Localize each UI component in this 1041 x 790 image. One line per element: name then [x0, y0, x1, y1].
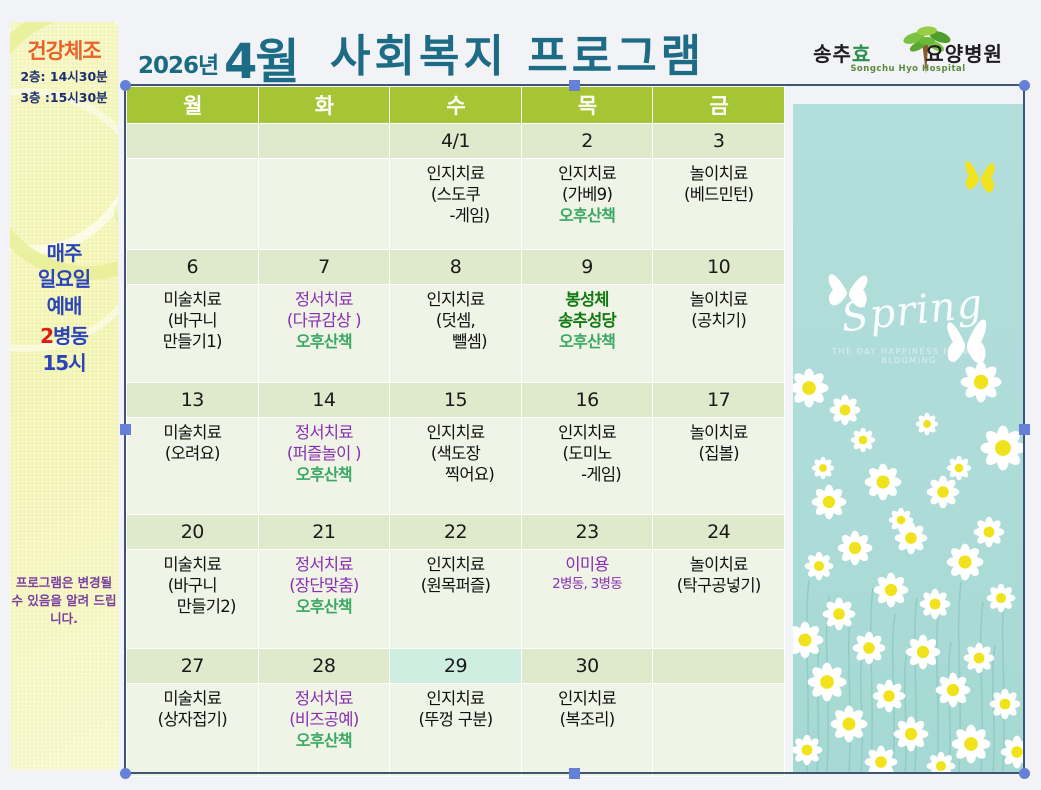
event-line: 인지치료 [394, 689, 517, 710]
event-line: 인지치료 [394, 290, 517, 311]
exercise-floor3-time: 3층 :15시30분 [10, 90, 118, 106]
calendar-date-cell[interactable]: 23 [521, 515, 653, 550]
event-line: 놀이치료 [657, 555, 780, 576]
event-line: 정서치료 [263, 423, 386, 444]
calendar-event-cell[interactable]: 놀이치료(베드민턴) [653, 159, 785, 250]
event-line: 정서치료 [263, 290, 386, 311]
calendar-date-cell[interactable]: 22 [390, 515, 522, 550]
selection-handle-top-left[interactable] [120, 80, 131, 91]
calendar-event-cell[interactable]: 인지치료(도미노-게임) [521, 418, 653, 515]
calendar-event-cell[interactable]: 놀이치료(탁구공넣기) [653, 550, 785, 649]
calendar-date-cell[interactable]: 9 [521, 250, 653, 285]
decorative-sidebar[interactable]: 건강체조 2층: 14시30분 3층 :15시30분 매주 일요일 예배 2병동… [10, 22, 118, 770]
calendar-date-cell-empty[interactable] [258, 124, 390, 159]
event-line: (탁구공넣기) [657, 576, 780, 597]
logo-name-hyo: 효 [852, 42, 871, 66]
calendar-event-cell[interactable]: 미술치료(바구니만들기2) [127, 550, 259, 649]
calendar-date-cell[interactable]: 28 [258, 649, 390, 684]
calendar-date-cell[interactable]: 17 [653, 383, 785, 418]
event-line: 미술치료 [131, 423, 254, 444]
calendar-event-row: 인지치료(스도쿠-게임)인지치료(가베9)오후산책놀이치료(베드민턴) [127, 159, 785, 250]
calendar-date-cell[interactable]: 29 [390, 649, 522, 684]
calendar-date-cell[interactable]: 27 [127, 649, 259, 684]
calendar-event-row: 미술치료(상자접기)정서치료(비즈공예)오후산책인지치료(뚜껑 구분)인지치료(… [127, 684, 785, 777]
spring-decoration-image[interactable]: Spring THE DAY HAPPINESS FLOWER BLOOMING [793, 104, 1025, 772]
calendar-event-cell[interactable]: 정서치료(퍼즐놀이 )오후산책 [258, 418, 390, 515]
event-line: 인지치료 [394, 555, 517, 576]
event-line: 만들기2) [131, 597, 254, 618]
event-line: 놀이치료 [657, 164, 780, 185]
event-line: 뺄셈) [394, 332, 517, 353]
calendar-date-row: 27282930 [127, 649, 785, 684]
calendar-date-cell[interactable]: 16 [521, 383, 653, 418]
calendar-event-cell[interactable]: 놀이치료(집볼) [653, 418, 785, 515]
calendar-date-cell[interactable]: 2 [521, 124, 653, 159]
event-line: 정서치료 [263, 555, 386, 576]
event-line: (덧셈, [394, 311, 517, 332]
event-line: 오후산책 [263, 332, 386, 352]
event-line: 찍어요) [394, 465, 517, 486]
calendar-event-cell[interactable]: 정서치료(다큐감상 )오후산책 [258, 285, 390, 383]
calendar-date-cell[interactable]: 30 [521, 649, 653, 684]
event-line: 인지치료 [394, 164, 517, 185]
calendar-date-cell[interactable]: 6 [127, 250, 259, 285]
sidebar-block-notice: 프로그램은 변경될 수 있음을 알려 드립니다. [10, 574, 118, 628]
worship-ward-number: 2 [40, 324, 53, 348]
logo-subtitle: Songchu Hyo Hospital [782, 64, 1034, 74]
event-line: 만들기1) [131, 332, 254, 353]
event-line: (비즈공예) [263, 710, 386, 731]
calendar-event-cell[interactable]: 정서치료(장단맞춤)오후산책 [258, 550, 390, 649]
calendar-date-cell-empty[interactable] [653, 649, 785, 684]
calendar-date-cell[interactable]: 8 [390, 250, 522, 285]
event-line: (원목퍼즐) [394, 576, 517, 597]
worship-ward: 2병동 [10, 323, 118, 349]
event-line: (공치기) [657, 311, 780, 332]
calendar-date-cell[interactable]: 7 [258, 250, 390, 285]
event-line: 인지치료 [526, 689, 649, 710]
calendar-event-cell[interactable]: 인지치료(뚜껑 구분) [390, 684, 522, 777]
calendar-date-cell[interactable]: 21 [258, 515, 390, 550]
event-line: (가베9) [526, 185, 649, 206]
event-line: (바구니 [131, 576, 254, 597]
event-line: 2병동, 3병동 [526, 576, 649, 593]
event-line: (다큐감상 ) [263, 311, 386, 332]
sidebar-block-worship: 매주 일요일 예배 2병동 15시 [10, 240, 118, 376]
event-line: (색도장 [394, 444, 517, 465]
event-line: (집볼) [657, 444, 780, 465]
event-line: 놀이치료 [657, 423, 780, 444]
event-line: 오후산책 [263, 465, 386, 485]
calendar-date-cell[interactable]: 20 [127, 515, 259, 550]
calendar-event-cell[interactable]: 놀이치료(공치기) [653, 285, 785, 383]
calendar-date-cell[interactable]: 3 [653, 124, 785, 159]
selection-handle-bottom-left[interactable] [120, 768, 131, 779]
calendar-event-cell[interactable] [258, 159, 390, 250]
logo-name-right: 요양병원 [925, 42, 1003, 66]
calendar-event-row: 미술치료(바구니만들기1)정서치료(다큐감상 )오후산책인지치료(덧셈,뺄셈)봉… [127, 285, 785, 383]
weekday-header-tue: 화 [258, 87, 390, 124]
worship-time: 15시 [10, 350, 118, 376]
calendar-event-cell[interactable]: 미술치료(바구니만들기1) [127, 285, 259, 383]
program-calendar[interactable]: 월 화 수 목 금 4/123인지치료(스도쿠-게임)인지치료(가베9)오후산책… [126, 86, 785, 777]
event-line: (퍼즐놀이 ) [263, 444, 386, 465]
weekday-header-mon: 월 [127, 87, 259, 124]
calendar-date-row: 2021222324 [127, 515, 785, 550]
selection-handle-middle-left[interactable] [120, 424, 131, 435]
event-line: (오려요) [131, 444, 254, 465]
selection-handle-top-center[interactable] [569, 80, 580, 91]
worship-line-1: 매주 [10, 240, 118, 266]
event-line: (스도쿠 [394, 185, 517, 206]
header-month: 4월 [224, 22, 298, 92]
event-line: 오후산책 [526, 206, 649, 226]
calendar-date-cell[interactable]: 10 [653, 250, 785, 285]
calendar-date-cell[interactable]: 24 [653, 515, 785, 550]
event-line: -게임) [526, 465, 649, 486]
calendar-date-cell[interactable]: 13 [127, 383, 259, 418]
calendar-event-cell[interactable]: 인지치료(가베9)오후산책 [521, 159, 653, 250]
selection-handle-bottom-right[interactable] [1019, 768, 1030, 779]
event-line: -게임) [394, 206, 517, 227]
calendar-event-cell[interactable]: 미술치료(상자접기) [127, 684, 259, 777]
butterfly-yellow-icon [959, 148, 1001, 206]
calendar-event-cell[interactable]: 인지치료(색도장찍어요) [390, 418, 522, 515]
event-line: (베드민턴) [657, 185, 780, 206]
worship-line-3: 예배 [10, 293, 118, 319]
event-line: 인지치료 [526, 423, 649, 444]
event-line: 정서치료 [263, 689, 386, 710]
calendar-event-cell[interactable]: 인지치료(덧셈,뺄셈) [390, 285, 522, 383]
calendar-event-cell[interactable] [653, 684, 785, 777]
event-line: 놀이치료 [657, 290, 780, 311]
calendar-date-row: 4/123 [127, 124, 785, 159]
event-line: 오후산책 [263, 731, 386, 751]
exercise-floor2-time: 2층: 14시30분 [10, 69, 118, 85]
calendar-date-cell[interactable]: 15 [390, 383, 522, 418]
daisy-field-illustration [793, 352, 1025, 772]
event-line: (복조리) [526, 710, 649, 731]
sidebar-block-exercise: 건강체조 2층: 14시30분 3층 :15시30분 [10, 38, 118, 106]
calendar-event-cell[interactable]: 봉성체송추성당오후산책 [521, 285, 653, 383]
selection-handle-middle-right[interactable] [1019, 424, 1030, 435]
selection-handle-bottom-center[interactable] [569, 768, 580, 779]
calendar-event-row: 미술치료(오려요)정서치료(퍼즐놀이 )오후산책인지치료(색도장찍어요)인지치료… [127, 418, 785, 515]
event-line: 미술치료 [131, 689, 254, 710]
event-line: (뚜껑 구분) [394, 710, 517, 731]
weekday-header-thu: 목 [521, 87, 653, 124]
calendar-date-row: 1314151617 [127, 383, 785, 418]
event-line: (도미노 [526, 444, 649, 465]
calendar-event-cell[interactable]: 인지치료(복조리) [521, 684, 653, 777]
header-year: 2026년 [138, 46, 218, 80]
event-line: 미술치료 [131, 290, 254, 311]
exercise-title: 건강체조 [10, 38, 118, 64]
selection-handle-top-right[interactable] [1019, 80, 1030, 91]
event-line: (바구니 [131, 311, 254, 332]
calendar-event-cell[interactable]: 인지치료(스도쿠-게임) [390, 159, 522, 250]
event-line: 송추성당 [526, 311, 649, 332]
worship-ward-label: 병동 [53, 324, 88, 348]
calendar-date-row: 678910 [127, 250, 785, 285]
page-title: 사회복지 프로그램 [330, 20, 705, 84]
calendar-date-cell[interactable]: 14 [258, 383, 390, 418]
event-line: 이미용 [526, 555, 649, 576]
event-line: 오후산책 [263, 597, 386, 617]
calendar-event-cell[interactable] [127, 159, 259, 250]
calendar-event-row: 미술치료(바구니만들기2)정서치료(장단맞춤)오후산책인지치료(원목퍼즐)이미용… [127, 550, 785, 649]
event-line: 미술치료 [131, 555, 254, 576]
event-line: 인지치료 [394, 423, 517, 444]
event-line: (장단맞춤) [263, 576, 386, 597]
worship-line-2: 일요일 [10, 266, 118, 292]
event-line: 인지치료 [526, 164, 649, 185]
event-line: 오후산책 [526, 332, 649, 352]
notice-text: 프로그램은 변경될 수 있음을 알려 드립니다. [10, 574, 118, 628]
logo-name: 송추효요양병원 [782, 38, 1034, 67]
calendar-date-cell-empty[interactable] [127, 124, 259, 159]
calendar-header-row: 월 화 수 목 금 [127, 87, 785, 124]
calendar-event-cell[interactable]: 이미용2병동, 3병동 [521, 550, 653, 649]
hospital-logo: 송추효요양병원 Songchu Hyo Hospital [782, 26, 1034, 82]
calendar-event-cell[interactable]: 미술치료(오려요) [127, 418, 259, 515]
weekday-header-wed: 수 [390, 87, 522, 124]
event-line: 봉성체 [526, 290, 649, 311]
logo-name-left: 송추 [813, 42, 852, 66]
calendar-event-cell[interactable]: 인지치료(원목퍼즐) [390, 550, 522, 649]
calendar-date-cell[interactable]: 4/1 [390, 124, 522, 159]
weekday-header-fri: 금 [653, 87, 785, 124]
calendar-event-cell[interactable]: 정서치료(비즈공예)오후산책 [258, 684, 390, 777]
event-line: (상자접기) [131, 710, 254, 731]
